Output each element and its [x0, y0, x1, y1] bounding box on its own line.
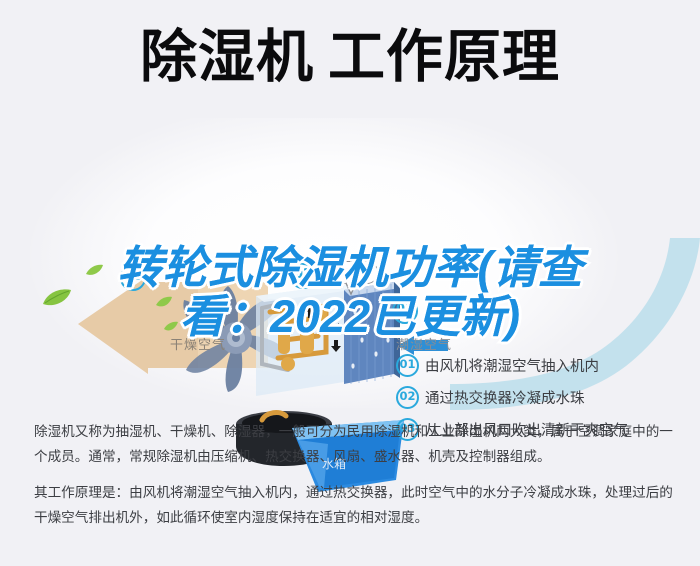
dehumidifier-diagram: 03 02 01 热交换器 干燥空气 潮湿空气 水箱 01 由风机将潮湿空气抽入…: [0, 118, 700, 408]
legend-num-02: 02: [396, 386, 419, 409]
legend-text-02: 通过热交换器冷凝成水珠: [425, 387, 585, 408]
page-title: 除湿机工作原理: [0, 26, 700, 88]
callout-tail-icon: [344, 281, 358, 295]
legend-num-01: 01: [396, 354, 419, 377]
leaf-icon: [156, 296, 173, 314]
badge-03: 03: [120, 263, 146, 291]
legend-item: 01 由风机将潮湿空气抽入机内: [396, 354, 696, 377]
badge-02: 02: [290, 261, 316, 289]
badge-02-ring: 02: [290, 263, 316, 289]
paragraph-1: 除湿机又称为抽湿机、干燥机、除湿器，一般可分为民用除湿机和工业除湿机两大类，属于…: [34, 420, 674, 470]
label-dry-air: 干燥空气: [170, 334, 226, 353]
badge-01: 01: [392, 296, 418, 324]
infographic-page: 除湿机工作原理: [0, 0, 700, 566]
title-part-2: 工作原理: [328, 25, 560, 89]
leaf-icon: [86, 264, 104, 282]
leaf-icon: [42, 288, 72, 313]
article-body: 除湿机又称为抽湿机、干燥机、除湿器，一般可分为民用除湿机和工业除湿机两大类，属于…: [34, 420, 674, 542]
title-part-1: 除湿机: [140, 25, 314, 89]
badge-03-ring: 03: [120, 265, 146, 291]
paragraph-2: 其工作原理是：由风机将潮湿空气抽入机内，通过热交换器，此时空气中的水分子冷凝成水…: [34, 481, 674, 531]
legend-item: 02 通过热交换器冷凝成水珠: [396, 386, 696, 409]
legend-text-01: 由风机将潮湿空气抽入机内: [425, 355, 599, 376]
label-moist-air: 潮湿空气: [396, 334, 452, 353]
badge-01-ring: 01: [392, 298, 418, 324]
